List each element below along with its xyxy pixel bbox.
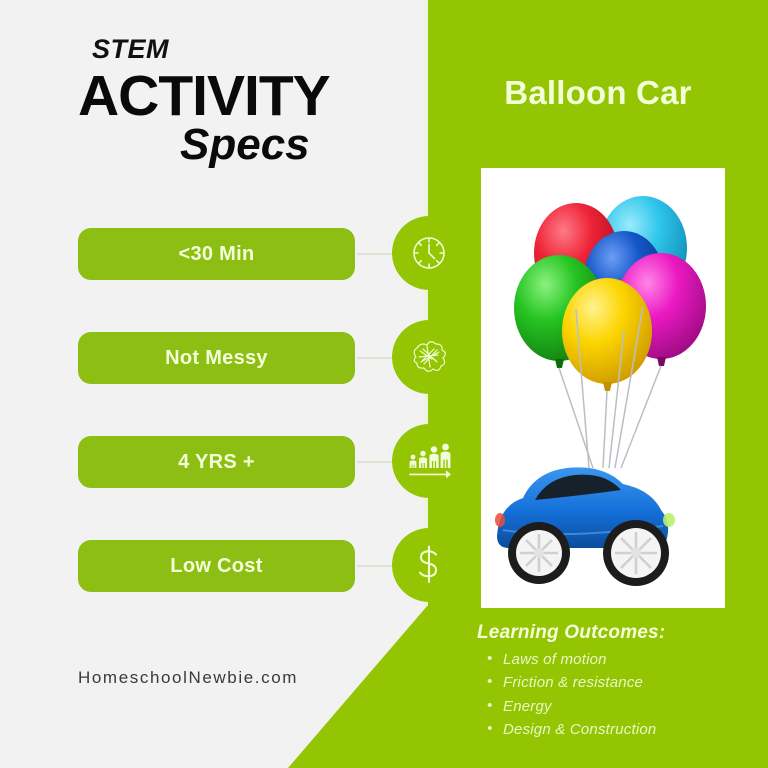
spec-pill-age[interactable]: 4 YRS + (78, 436, 355, 488)
page-title: STEM ACTIVITY Specs (78, 36, 330, 168)
spec-pill-label: Low Cost (170, 555, 262, 578)
list-item: Design & Construction (477, 721, 767, 738)
spec-icon-age (392, 424, 466, 498)
spec-icon-mess (392, 320, 466, 394)
list-item: Laws of motion (477, 651, 767, 668)
spec-icon-cost (392, 528, 466, 602)
learning-outcomes-heading: Learning Outcomes: (477, 622, 767, 644)
activity-title: Balloon Car (428, 74, 768, 112)
spec-pill-label: 4 YRS + (178, 451, 255, 474)
spec-pill-label: Not Messy (165, 347, 268, 370)
age-growth-people-icon (406, 440, 452, 482)
list-item: Energy (477, 698, 767, 715)
title-main: ACTIVITY (78, 67, 330, 125)
scribble-mess-icon (408, 337, 450, 377)
learning-outcomes: Learning Outcomes: Laws of motion Fricti… (477, 622, 767, 738)
list-item: Friction & resistance (477, 674, 767, 691)
title-eyebrow: STEM (92, 36, 330, 63)
site-url[interactable]: HomeschoolNewbie.com (78, 668, 298, 688)
spec-pill-duration[interactable]: <30 Min (78, 228, 355, 280)
activity-photo (481, 168, 725, 608)
dollar-sign-icon (413, 544, 445, 586)
spec-pill-cost[interactable]: Low Cost (78, 540, 355, 592)
clock-icon (409, 233, 449, 273)
spec-pill-label: <30 Min (178, 243, 254, 266)
spec-icon-duration (392, 216, 466, 290)
spec-pill-mess[interactable]: Not Messy (78, 332, 355, 384)
learning-outcomes-list: Laws of motion Friction & resistance Ene… (477, 651, 767, 738)
title-subtitle: Specs (180, 123, 330, 168)
